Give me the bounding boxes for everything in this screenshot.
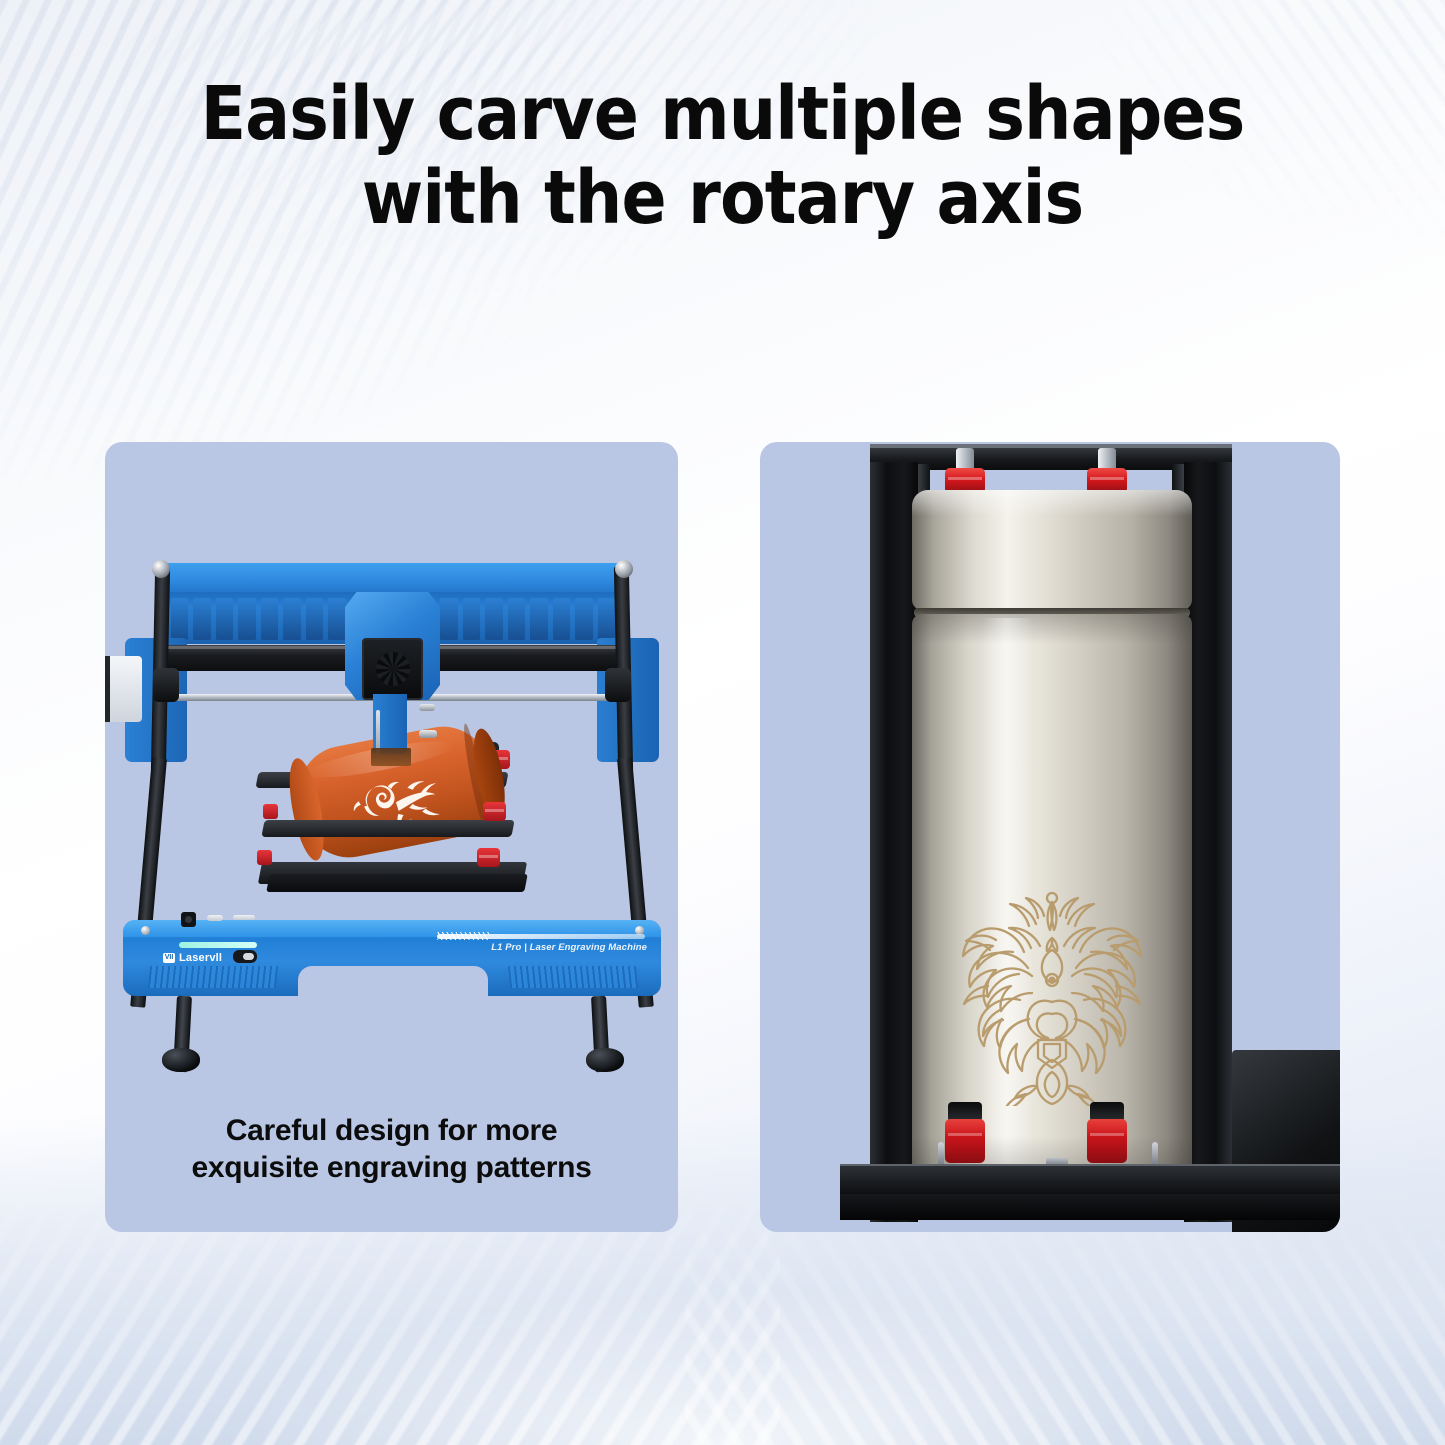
brand-name-label: Laservll [179, 952, 222, 964]
damask-engraving-icon [940, 880, 1164, 1106]
machine-tension-knob-left [152, 560, 170, 578]
machine-status-led [179, 942, 257, 948]
machine-vent-left [148, 966, 278, 988]
rotary-clamp-left-mid [263, 804, 278, 819]
machine-left-end-cap [105, 656, 142, 722]
left-feature-panel: L1 Pro | Laser Engraving Machine VII Las… [105, 442, 678, 1232]
power-port-icon [181, 912, 196, 927]
roller-collar-red [1087, 1119, 1127, 1163]
tumbler-body-shadow [912, 614, 1192, 644]
laser-head-fan-icon [362, 638, 423, 700]
machine-brand-logo: VII Laservll [163, 952, 222, 964]
rig-top-crossbar-edge [870, 444, 1232, 448]
rig-post-left [870, 462, 918, 1222]
headline-line-2: with the rotary axis [72, 156, 1373, 240]
machine-belt-wheel-right [605, 668, 631, 702]
machine-tension-knob-right [615, 560, 633, 578]
page-headline: Easily carve multiple shapes with the ro… [0, 72, 1445, 240]
roller-collar-red [945, 1119, 985, 1163]
power-switch-toggle[interactable] [233, 950, 257, 963]
rotary-axis-rig [760, 442, 1340, 1232]
background-bottom-sheen [0, 1195, 1445, 1445]
machine-belt-wheel-left [153, 668, 179, 702]
laser-head-screw-lower [419, 730, 437, 738]
rotary-rail-front [261, 820, 514, 837]
connector-port-b-icon [233, 915, 255, 920]
laser-head-nozzle [371, 748, 411, 766]
machine-base-screw-left [141, 926, 150, 935]
headline-line-1: Easily carve multiple shapes [72, 72, 1373, 156]
machine-model-label: L1 Pro | Laser Engraving Machine [435, 942, 647, 953]
right-feature-panel [760, 442, 1340, 1232]
rotary-knob-mid [483, 802, 506, 821]
laser-head-screw-upper [419, 704, 435, 711]
machine-foot-pad-right [586, 1048, 624, 1072]
machine-vent-right [508, 966, 638, 988]
machine-base-cutout [298, 966, 488, 996]
tumbler-cap-highlight [912, 490, 1192, 516]
machine-foot-pad-left [162, 1048, 200, 1072]
rig-base-rail-lower [840, 1194, 1340, 1220]
rig-base-rail [840, 1166, 1340, 1196]
left-panel-caption: Careful design for more exquisite engrav… [105, 1112, 678, 1186]
connector-port-a-icon [207, 915, 223, 921]
rotary-base-plate [266, 874, 527, 892]
machine-front-slot [437, 934, 645, 939]
engraved-tumbler [912, 490, 1192, 1192]
left-caption-line-2: exquisite engraving patterns [105, 1149, 678, 1186]
rotary-clamp-left-bottom [257, 850, 272, 865]
left-caption-line-1: Careful design for more [105, 1112, 678, 1149]
rotary-knob-bottom [477, 848, 500, 867]
brand-mark-icon: VII [163, 953, 175, 963]
